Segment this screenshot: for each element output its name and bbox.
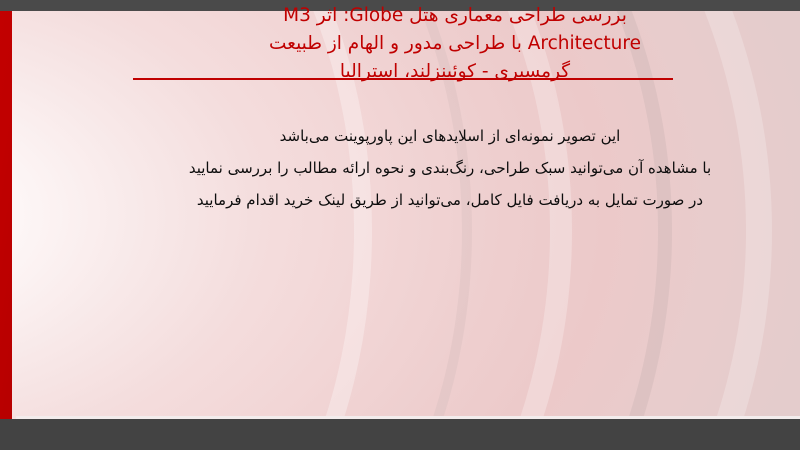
slide-title: بررسی طراحی معماری هتل Globe: اثر M3 Arc… bbox=[110, 2, 800, 86]
body-line-3: در صورت تمایل به دریافت فایل کامل، می‌تو… bbox=[120, 184, 780, 216]
title-line-3: گرمسیری - کوئینزلند، استرالیا bbox=[110, 58, 800, 86]
title-line-1: بررسی طراحی معماری هتل Globe: اثر M3 bbox=[110, 2, 800, 30]
body-line-2: با مشاهده آن می‌توانید سبک طراحی، رنگ‌بن… bbox=[120, 152, 780, 184]
title-line-2: Architecture با طراحی مدور و الهام از طب… bbox=[110, 30, 800, 58]
title-underline-rule bbox=[133, 78, 673, 80]
frame-bottom-band bbox=[0, 419, 800, 450]
slide-body-text: این تصویر نمونه‌ای از اسلایدهای این پاور… bbox=[120, 120, 780, 216]
body-line-1: این تصویر نمونه‌ای از اسلایدهای این پاور… bbox=[120, 120, 780, 152]
slide-canvas: بررسی طراحی معماری هتل Globe: اثر M3 Arc… bbox=[0, 0, 800, 450]
